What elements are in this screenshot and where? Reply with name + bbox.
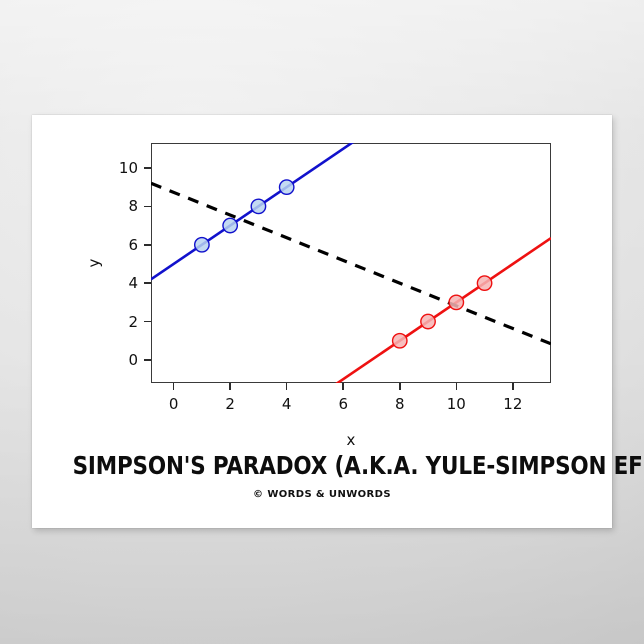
y-tick-label: 10 xyxy=(105,159,138,177)
y-tick-mark xyxy=(144,359,151,361)
poster-credit: © WORDS & UNWORDS xyxy=(32,489,612,500)
chart-plot-area xyxy=(151,143,551,383)
y-tick-label: 8 xyxy=(105,197,138,215)
x-tick-mark xyxy=(456,383,458,390)
chart-canvas xyxy=(151,143,551,383)
y-tick-mark xyxy=(144,244,151,246)
y-tick-mark xyxy=(144,321,151,323)
y-tick-label: 6 xyxy=(105,236,138,254)
x-axis-label: x xyxy=(151,431,551,449)
page-title: SIMPSON'S PARADOX (A.K.A. YULE-SIMPSON E… xyxy=(73,451,572,480)
x-tick-mark xyxy=(342,383,344,390)
poster-mockup: 0246810120246810 x y SIMPSON'S PARADOX (… xyxy=(0,0,644,644)
x-tick-label: 4 xyxy=(282,395,292,413)
y-tick-mark xyxy=(144,167,151,169)
x-tick-mark xyxy=(399,383,401,390)
data-point-group-blue xyxy=(195,238,209,252)
x-tick-label: 0 xyxy=(169,395,179,413)
y-tick-label: 4 xyxy=(105,274,138,292)
x-tick-mark xyxy=(512,383,514,390)
x-tick-label: 8 xyxy=(395,395,405,413)
x-tick-mark xyxy=(173,383,175,390)
y-tick-label: 2 xyxy=(105,313,138,331)
chart-series-group xyxy=(151,143,551,383)
x-tick-label: 10 xyxy=(447,395,466,413)
y-axis-label: y xyxy=(85,259,103,268)
poster-panel: 0246810120246810 x y SIMPSON'S PARADOX (… xyxy=(32,115,612,528)
data-point-group-red xyxy=(477,276,491,290)
data-point-group-blue xyxy=(223,218,237,232)
trend-line-aggregate-trend xyxy=(151,183,551,344)
trend-line-group-red xyxy=(331,238,551,383)
data-point-group-blue xyxy=(251,199,265,213)
x-tick-label: 6 xyxy=(338,395,348,413)
y-tick-mark xyxy=(144,206,151,208)
x-tick-mark xyxy=(229,383,231,390)
data-point-group-blue xyxy=(279,180,293,194)
poster-content: 0246810120246810 x y SIMPSON'S PARADOX (… xyxy=(32,115,612,528)
data-point-group-red xyxy=(449,295,463,309)
x-tick-label: 12 xyxy=(503,395,522,413)
x-tick-mark xyxy=(286,383,288,390)
y-tick-label: 0 xyxy=(105,351,138,369)
data-point-group-red xyxy=(421,314,435,328)
x-tick-label: 2 xyxy=(225,395,235,413)
data-point-group-red xyxy=(393,334,407,348)
y-tick-mark xyxy=(144,282,151,284)
poster-caption: SIMPSON'S PARADOX (A.K.A. YULE-SIMPSON E… xyxy=(32,451,612,500)
